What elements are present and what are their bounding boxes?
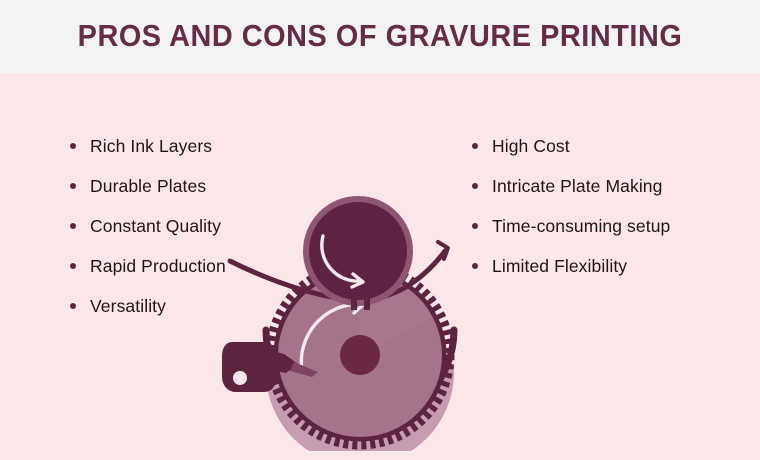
bullet-dot-icon [70,183,76,189]
page-title: PROS AND CONS OF GRAVURE PRINTING [27,18,734,54]
list-item-label: Rapid Production [90,256,226,277]
list-item-label: Time-consuming setup [492,216,670,237]
list-item-label: Constant Quality [90,216,221,237]
list-item-label: Durable Plates [90,176,206,197]
cons-list: High Cost Intricate Plate Making Time-co… [472,126,742,286]
gravure-cylinder-hub-icon [340,335,380,375]
list-item: High Cost [472,126,742,166]
list-item-label: Rich Ink Layers [90,136,212,157]
list-item-label: Versatility [90,296,166,317]
bullet-dot-icon [472,143,478,149]
list-item-label: Intricate Plate Making [492,176,662,197]
nip-contact-mark [351,296,357,310]
list-item: Limited Flexibility [472,246,742,286]
list-item: Intricate Plate Making [472,166,742,206]
infographic-canvas: PROS AND CONS OF GRAVURE PRINTING Rich I… [0,0,760,460]
bullet-dot-icon [70,303,76,309]
bullet-dot-icon [70,223,76,229]
gravure-printing-press-illustration [220,196,480,451]
bullet-dot-icon [70,143,76,149]
bullet-dot-icon [70,263,76,269]
list-item-label: Limited Flexibility [492,256,627,277]
bullet-dot-icon [472,183,478,189]
list-item: Time-consuming setup [472,206,742,246]
nip-contact-mark [364,296,370,310]
list-item-label: High Cost [492,136,570,157]
list-item: Rich Ink Layers [70,126,340,166]
